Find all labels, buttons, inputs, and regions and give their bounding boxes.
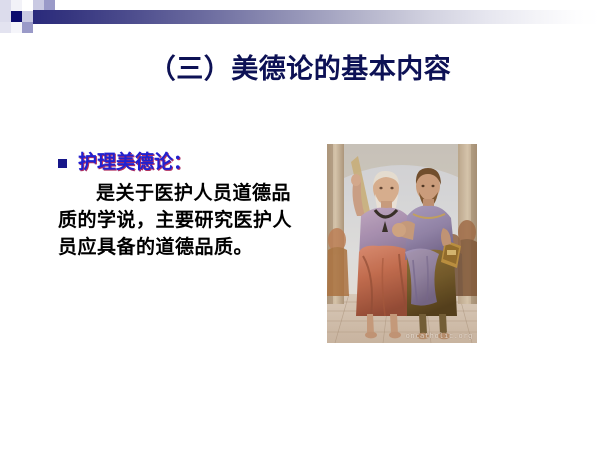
deco-square [11,22,22,33]
header-gradient-bar [33,10,600,24]
bullet-item: 护理美德论： [58,150,308,176]
bullet-item-label: 护理美德论： [78,150,192,176]
painting-image: oncatholic.org [327,144,477,343]
deco-square [0,0,11,11]
deco-square [33,24,44,34]
header-decoration [0,0,600,46]
image-watermark: oncatholic.org [406,332,473,340]
deco-square [11,0,22,11]
deco-square [33,0,44,10]
deco-square-dark [11,11,22,22]
deco-square [22,11,33,22]
deco-square [0,11,11,22]
deco-square [44,0,55,10]
slide: （三）美德论的基本内容 护理美德论： 是关于医护人员道德品质的学说，主要研究医护… [0,0,600,450]
deco-square [0,22,11,33]
content-block: 护理美德论： 是关于医护人员道德品质的学说，主要研究医护人员应具备的道德品质。 [58,150,308,261]
deco-square [22,22,33,33]
square-bullet-icon [58,159,67,168]
deco-square [22,0,33,11]
slide-title: （三）美德论的基本内容 [0,54,600,86]
deco-square [44,24,55,34]
body-paragraph: 是关于医护人员道德品质的学说，主要研究医护人员应具备的道德品质。 [58,180,308,261]
school-of-athens-illustration [327,144,477,343]
